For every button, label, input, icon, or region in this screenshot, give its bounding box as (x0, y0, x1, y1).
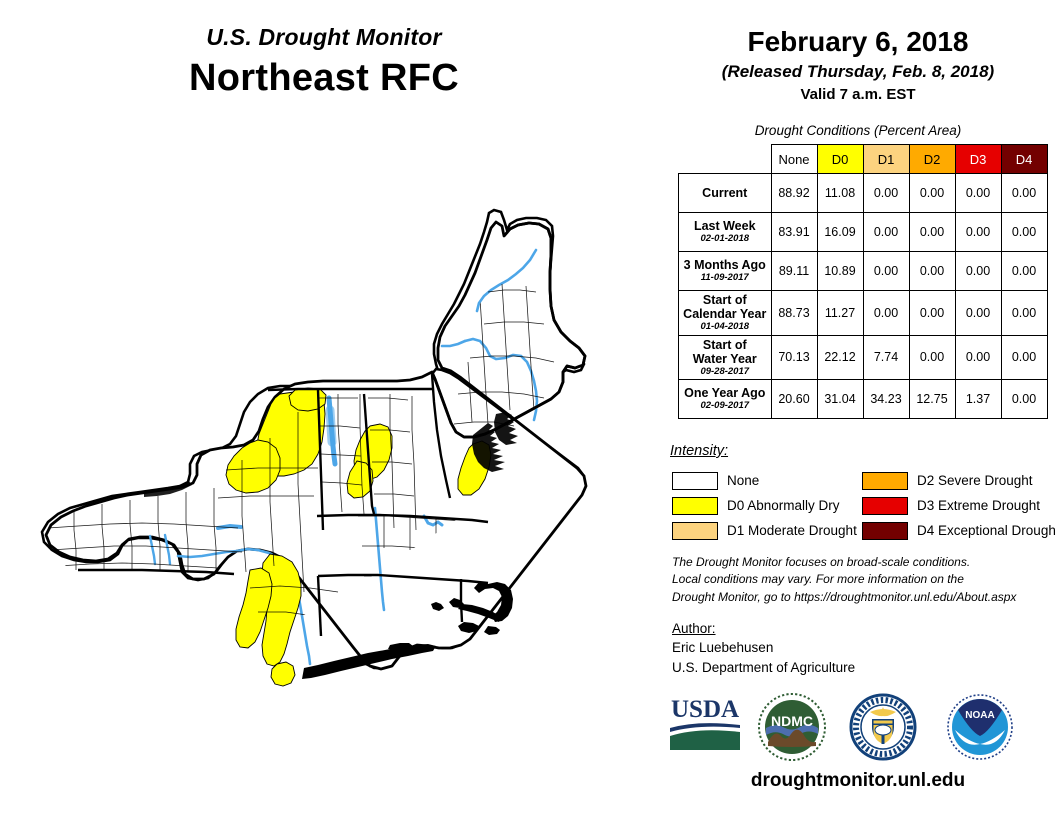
legend-label: D4 Exceptional Drought (917, 523, 1056, 538)
column-header-d2: D2 (909, 145, 955, 174)
cell-current-none: 88.92 (771, 174, 817, 213)
row-label-text: 3 Months Ago (684, 258, 766, 272)
row-label-date: 01-04-2018 (682, 322, 768, 333)
table-row: Start of Calendar Year 01-04-2018 88.73 … (679, 291, 1048, 336)
cell-one-year-d4: 0.00 (1001, 380, 1047, 419)
noaa-logo-text: NOAA (965, 710, 994, 721)
program-title: U.S. Drought Monitor (0, 24, 648, 51)
cell-calendar-d3: 0.00 (955, 291, 1001, 336)
swatch-none-icon (672, 472, 718, 490)
swatch-d0-icon (672, 497, 718, 515)
cell-3-months-none: 89.11 (771, 252, 817, 291)
legend-item-d2: D2 Severe Drought (862, 468, 1056, 493)
swatch-d1-icon (672, 522, 718, 540)
legend-item-d3: D3 Extreme Drought (862, 493, 1056, 518)
cell-current-d3: 0.00 (955, 174, 1001, 213)
legend-column-left: None D0 Abnormally Dry D1 Moderate Droug… (672, 468, 857, 543)
logo-strip: USDA NDMC NOAA (660, 692, 1056, 766)
column-header-none: None (771, 145, 817, 174)
row-label-text: One Year Ago (684, 386, 765, 400)
author-heading: Author: (672, 621, 716, 636)
cell-3-months-d1: 0.00 (863, 252, 909, 291)
ndmc-logo-text: NDMC (771, 713, 813, 729)
column-header-d3: D3 (955, 145, 1001, 174)
cell-calendar-d2: 0.00 (909, 291, 955, 336)
d0-region-vermont-north (289, 388, 326, 411)
table-row: One Year Ago 02-09-2017 20.60 31.04 34.2… (679, 380, 1048, 419)
row-label-date: 02-01-2018 (682, 234, 768, 245)
cell-calendar-none: 88.73 (771, 291, 817, 336)
cell-current-d1: 0.00 (863, 174, 909, 213)
northeast-rfc-drought-map[interactable] (18, 198, 648, 728)
table-row: Last Week 02-01-2018 83.91 16.09 0.00 0.… (679, 213, 1048, 252)
row-label-start-water-year: Start of Water Year 09-28-2017 (679, 335, 772, 380)
legend-label: D1 Moderate Drought (727, 523, 857, 538)
page-title: Northeast RFC (0, 57, 648, 100)
site-url: droughtmonitor.unl.edu (660, 770, 1056, 792)
disclaimer-line-3: Drought Monitor, go to https://droughtmo… (672, 589, 1056, 606)
cell-3-months-d4: 0.00 (1001, 252, 1047, 291)
disclaimer-line-2: Local conditions may vary. For more info… (672, 571, 1056, 588)
table-row: Current 88.92 11.08 0.00 0.00 0.00 0.00 (679, 174, 1048, 213)
row-label-date: 02-09-2017 (682, 401, 768, 412)
date-block: February 6, 2018 (Released Thursday, Feb… (660, 26, 1056, 103)
usda-logo-text: USDA (671, 696, 739, 723)
cell-water-d3: 0.00 (955, 335, 1001, 380)
cell-water-d1: 7.74 (863, 335, 909, 380)
cell-last-week-none: 83.91 (771, 213, 817, 252)
author-block: Eric Luebehusen U.S. Department of Agric… (672, 638, 855, 677)
cell-calendar-d1: 0.00 (863, 291, 909, 336)
legend-label: D3 Extreme Drought (917, 498, 1040, 513)
ndmc-logo: NDMC (757, 692, 827, 762)
author-name: Eric Luebehusen (672, 638, 855, 658)
noaa-logo: NOAA (945, 692, 1015, 762)
table-header-row: None D0 D1 D2 D3 D4 (679, 145, 1048, 174)
swatch-d3-icon (862, 497, 908, 515)
legend-item-none: None (672, 468, 857, 493)
table-corner-cell (679, 145, 772, 174)
cell-last-week-d3: 0.00 (955, 213, 1001, 252)
d0-region-hudson-valley (262, 554, 301, 666)
cell-current-d4: 0.00 (1001, 174, 1047, 213)
map-svg[interactable] (18, 198, 648, 728)
cell-one-year-d0: 31.04 (817, 380, 863, 419)
swatch-d2-icon (862, 472, 908, 490)
cell-water-d4: 0.00 (1001, 335, 1047, 380)
disclaimer-line-1: The Drought Monitor focuses on broad-sca… (672, 554, 1056, 571)
cell-calendar-d0: 11.27 (817, 291, 863, 336)
swatch-d4-icon (862, 522, 908, 540)
issue-date: February 6, 2018 (660, 26, 1056, 58)
drought-conditions-table: None D0 D1 D2 D3 D4 Current 88.92 11.08 … (678, 144, 1048, 419)
cell-3-months-d0: 10.89 (817, 252, 863, 291)
column-header-d4: D4 (1001, 145, 1047, 174)
author-organization: U.S. Department of Agriculture (672, 658, 855, 678)
row-label-line1: Start of (703, 293, 747, 307)
legend-label: D0 Abnormally Dry (727, 498, 840, 513)
usda-logo: USDA (668, 692, 742, 754)
cell-one-year-d3: 1.37 (955, 380, 1001, 419)
cell-one-year-d1: 34.23 (863, 380, 909, 419)
row-label-one-year-ago: One Year Ago 02-09-2017 (679, 380, 772, 419)
legend-label: D2 Severe Drought (917, 473, 1033, 488)
legend-item-d1: D1 Moderate Drought (672, 518, 857, 543)
row-label-date: 11-09-2017 (682, 273, 768, 284)
table-caption: Drought Conditions (Percent Area) (660, 123, 1056, 138)
cell-last-week-d0: 16.09 (817, 213, 863, 252)
cell-water-none: 70.13 (771, 335, 817, 380)
row-label-start-calendar-year: Start of Calendar Year 01-04-2018 (679, 291, 772, 336)
table-row: 3 Months Ago 11-09-2017 89.11 10.89 0.00… (679, 252, 1048, 291)
cell-current-d2: 0.00 (909, 174, 955, 213)
table-row: Start of Water Year 09-28-2017 70.13 22.… (679, 335, 1048, 380)
cell-one-year-d2: 12.75 (909, 380, 955, 419)
row-label-date: 09-28-2017 (682, 367, 768, 378)
row-label-line2: Water Year (693, 352, 757, 366)
cell-water-d2: 0.00 (909, 335, 955, 380)
legend-column-right: D2 Severe Drought D3 Extreme Drought D4 … (862, 468, 1056, 543)
column-header-d1: D1 (863, 145, 909, 174)
row-label-text: Current (702, 186, 747, 200)
usdc-seal (848, 692, 918, 762)
legend-item-d0: D0 Abnormally Dry (672, 493, 857, 518)
row-label-3-months-ago: 3 Months Ago 11-09-2017 (679, 252, 772, 291)
disclaimer-text: The Drought Monitor focuses on broad-sca… (672, 554, 1056, 606)
intensity-heading: Intensity: (670, 443, 728, 459)
legend-label: None (727, 473, 759, 488)
cell-current-d0: 11.08 (817, 174, 863, 213)
legend-item-d4: D4 Exceptional Drought (862, 518, 1056, 543)
cell-calendar-d4: 0.00 (1001, 291, 1047, 336)
cell-3-months-d2: 0.00 (909, 252, 955, 291)
cell-last-week-d2: 0.00 (909, 213, 955, 252)
release-date: (Released Thursday, Feb. 8, 2018) (660, 62, 1056, 82)
cell-3-months-d3: 0.00 (955, 252, 1001, 291)
row-label-text: Last Week (694, 219, 756, 233)
column-header-d0: D0 (817, 145, 863, 174)
cell-last-week-d1: 0.00 (863, 213, 909, 252)
cell-water-d0: 22.12 (817, 335, 863, 380)
row-label-current: Current (679, 174, 772, 213)
row-label-line2: Calendar Year (683, 307, 766, 321)
map-title-block: U.S. Drought Monitor Northeast RFC (0, 24, 648, 100)
row-label-line1: Start of (703, 338, 747, 352)
valid-time: Valid 7 a.m. EST (660, 86, 1056, 103)
row-label-last-week: Last Week 02-01-2018 (679, 213, 772, 252)
cell-one-year-none: 20.60 (771, 380, 817, 419)
cell-last-week-d4: 0.00 (1001, 213, 1047, 252)
